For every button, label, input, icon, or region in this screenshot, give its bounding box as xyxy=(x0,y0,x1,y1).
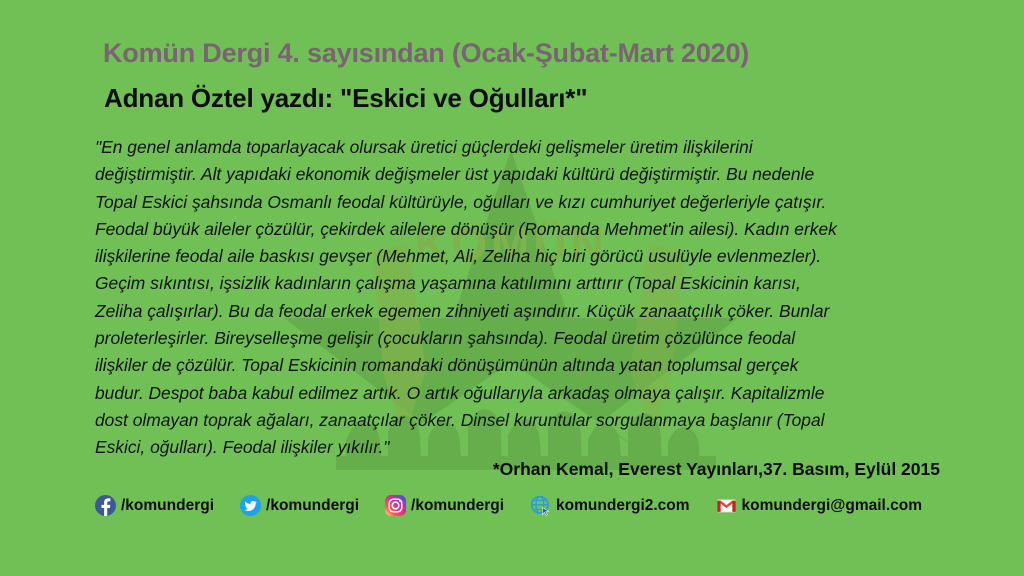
social-item-email[interactable]: komundergi@gmail.com xyxy=(716,495,922,516)
page-title: Adnan Öztel yazdı: "Eskici ve Oğulları*" xyxy=(104,83,587,114)
quote-line: değiştirmiştir. Alt yapıdaki ekonomik de… xyxy=(95,161,940,188)
quote-line: ilişkiler de çözülür. Topal Eskicinin ro… xyxy=(95,352,940,379)
quote-body: "En genel anlamda toparlayacak olursak ü… xyxy=(95,134,940,462)
source-attribution: *Orhan Kemal, Everest Yayınları,37. Bası… xyxy=(0,459,940,480)
twitter-icon xyxy=(240,495,261,516)
quote-line: "En genel anlamda toparlayacak olursak ü… xyxy=(95,134,940,161)
social-item-instagram[interactable]: /komundergi xyxy=(385,495,504,516)
social-item-website[interactable]: komundergi2.com xyxy=(530,495,690,516)
instagram-icon xyxy=(385,495,406,516)
social-label: /komundergi xyxy=(411,497,504,515)
social-footer: /komundergi /komundergi xyxy=(95,495,922,516)
quote-line: Zeliha çalışırlar). Bu da feodal erkek e… xyxy=(95,298,940,325)
social-label: /komundergi xyxy=(266,497,359,515)
social-label: /komundergi xyxy=(121,497,214,515)
quote-line: ilişkilerine feodal aile baskısı gevşer … xyxy=(95,243,940,270)
gmail-icon xyxy=(716,495,737,516)
quote-line: budur. Despot baba kabul edilmez artık. … xyxy=(95,380,940,407)
facebook-icon xyxy=(95,495,116,516)
globe-icon xyxy=(530,495,551,516)
issue-kicker: Komün Dergi 4. sayısından (Ocak-Şubat-Ma… xyxy=(103,38,749,69)
slide-canvas: KOMÜN Komün Dergi 4. sayısından (Ocak-Şu… xyxy=(0,0,1024,576)
social-label: komundergi2.com xyxy=(556,497,690,515)
quote-line: Topal Eskici şahsında Osmanlı feodal kül… xyxy=(95,189,940,216)
quote-line: Eskici, oğulları). Feodal ilişkiler yıkı… xyxy=(95,434,940,461)
quote-line: Feodal büyük aileler çözülür, çekirdek a… xyxy=(95,216,940,243)
social-item-twitter[interactable]: /komundergi xyxy=(240,495,359,516)
quote-line: proleterleşirler. Bireyselleşme gelişir … xyxy=(95,325,940,352)
quote-line: dost olmayan toprak ağaları, zanaatçılar… xyxy=(95,407,940,434)
social-item-facebook[interactable]: /komundergi xyxy=(95,495,214,516)
social-label: komundergi@gmail.com xyxy=(742,497,922,515)
quote-line: Geçim sıkıntısı, işsizlik kadınların çal… xyxy=(95,270,940,297)
